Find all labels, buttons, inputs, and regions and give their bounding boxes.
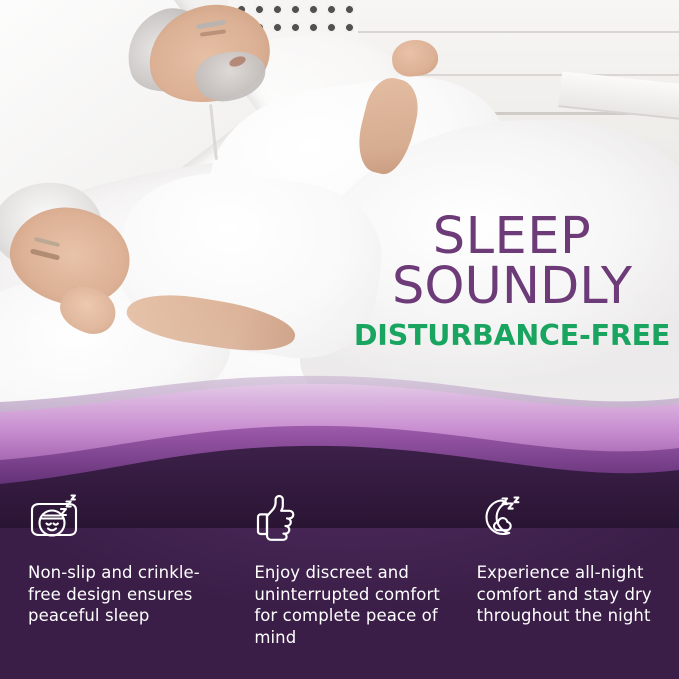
feature-text-1: Non-slip and crinkle-free design ensures…: [28, 562, 214, 627]
thumbs-up-icon: [254, 493, 308, 545]
feature-text-3: Experience all-night comfort and stay dr…: [477, 562, 663, 627]
sub-headline: DISTURBANCE-FREE: [352, 321, 672, 351]
feature-item-2: Enjoy discreet and uninterrupted comfort…: [230, 470, 456, 679]
features-row: Non-slip and crinkle-free design ensures…: [0, 470, 679, 679]
product-banner: SLEEP SOUNDLY DISTURBANCE-FREE: [0, 0, 679, 679]
feature-item-3: Experience all-night comfort and stay dr…: [457, 470, 679, 679]
headline-line-2: SOUNDLY: [352, 262, 672, 312]
headline-block: SLEEP SOUNDLY DISTURBANCE-FREE: [352, 212, 672, 351]
pillow-sleeping-face-zzz-icon: [28, 493, 82, 545]
headline-line-1: SLEEP: [352, 212, 672, 262]
feature-text-2: Enjoy discreet and uninterrupted comfort…: [254, 562, 440, 648]
crescent-moon-zzz-icon: [477, 493, 531, 545]
feature-item-1: Non-slip and crinkle-free design ensures…: [0, 470, 230, 679]
